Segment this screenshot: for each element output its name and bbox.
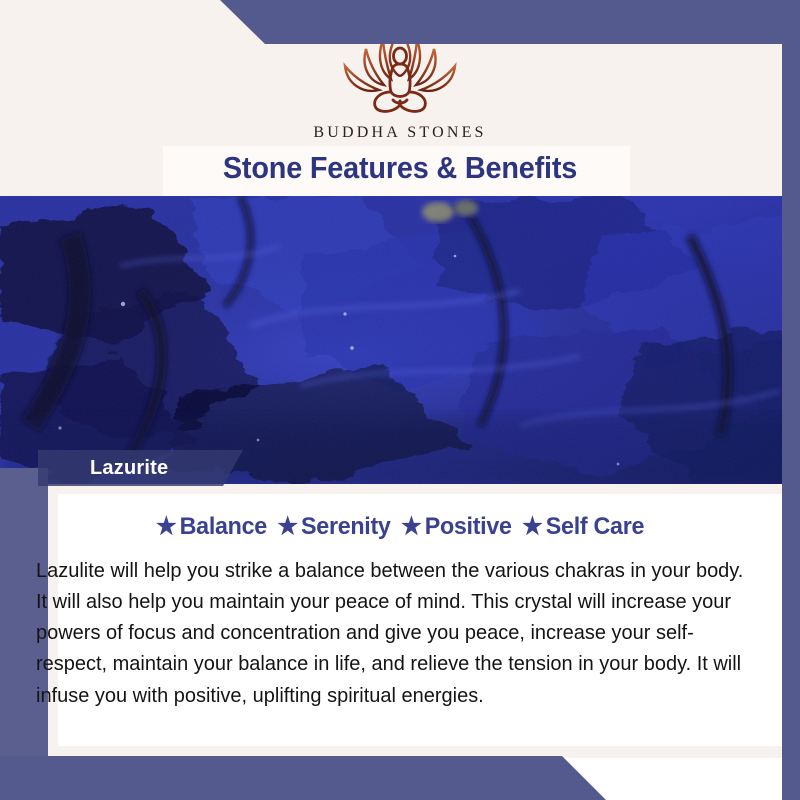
benefits-row: ★Balance ★Serenity ★Positive ★Self Care	[29, 484, 770, 541]
star-icon: ★	[277, 513, 298, 540]
content-body: ★Balance ★Serenity ★Positive ★Self Care …	[18, 484, 782, 711]
page-title: Stone Features & Benefits	[28, 150, 772, 186]
star-icon: ★	[522, 513, 543, 540]
frame-accent-right	[782, 0, 800, 800]
infographic-card: BUDDHA STONES Stone Features & Benefits	[0, 0, 800, 800]
benefit-label: Balance	[180, 513, 267, 540]
star-icon: ★	[156, 513, 177, 540]
benefit-label: Serenity	[301, 513, 391, 540]
benefit-item: ★Positive	[401, 512, 512, 541]
stone-name-label: Lazurite	[90, 457, 168, 480]
benefit-label: Self Care	[546, 513, 644, 540]
benefit-item: ★Self Care	[522, 512, 644, 541]
benefit-item: ★Serenity	[277, 512, 390, 541]
benefit-label: Positive	[425, 513, 512, 540]
benefit-item: ★Balance	[156, 512, 267, 541]
brand-name: BUDDHA STONES	[0, 124, 800, 142]
lazurite-stone-photo	[0, 196, 800, 484]
star-icon: ★	[401, 513, 422, 540]
stone-description: Lazulite will help you strike a balance …	[36, 555, 746, 711]
